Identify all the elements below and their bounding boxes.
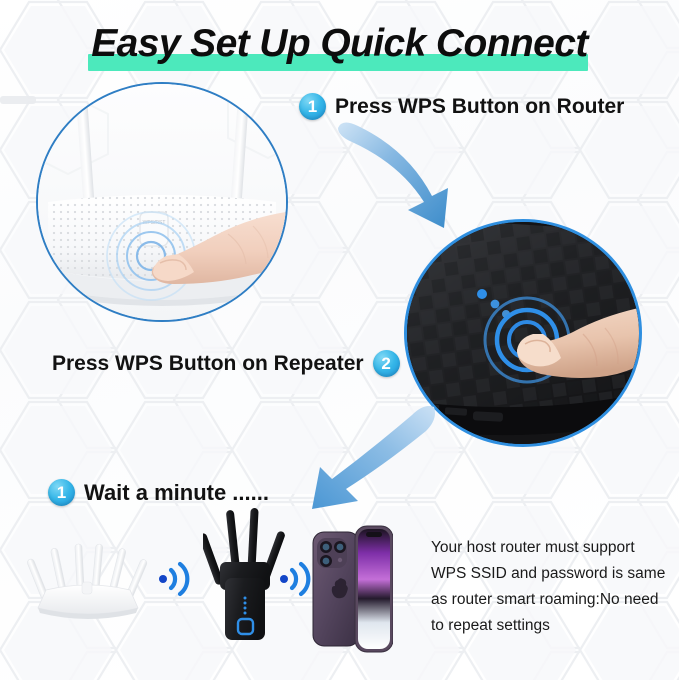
device-smartphone bbox=[311, 524, 393, 654]
photo-repeater-wps bbox=[404, 219, 642, 447]
step-badge-1: 1 bbox=[299, 93, 326, 120]
page-title-wrap: Easy Set Up Quick Connect bbox=[0, 18, 679, 76]
note-line-2: WPS SSID and password is same bbox=[431, 561, 679, 587]
note-paragraph: Your host router must support WPS SSID a… bbox=[431, 535, 679, 639]
arrow-router-to-repeater bbox=[336, 120, 486, 240]
photo-router-image: WPS/RST bbox=[38, 84, 286, 320]
arrow-repeater-to-result bbox=[288, 405, 438, 525]
step-press-wps-repeater: Press WPS Button on Repeater 2 bbox=[52, 350, 400, 377]
step-label-2: Press WPS Button on Repeater bbox=[52, 352, 364, 376]
device-host-router bbox=[22, 528, 154, 624]
step-badge-2: 2 bbox=[373, 350, 400, 377]
step-press-wps-router: 1 Press WPS Button on Router bbox=[299, 93, 624, 120]
wifi-signal-router-to-repeater bbox=[156, 561, 198, 597]
infographic-page: Easy Set Up Quick Connect bbox=[0, 0, 679, 680]
photo-router-wps: WPS/RST bbox=[36, 82, 288, 322]
page-title: Easy Set Up Quick Connect bbox=[0, 18, 679, 70]
note-line-3: as router smart roaming:No need bbox=[431, 587, 679, 613]
step-wait-a-minute: 1 Wait a minute ...... bbox=[48, 479, 269, 506]
note-line-1: Your host router must support bbox=[431, 535, 679, 561]
step-label-3: Wait a minute ...... bbox=[84, 480, 269, 506]
device-wifi-repeater bbox=[203, 506, 287, 652]
note-line-4: to repeat settings bbox=[431, 613, 679, 639]
step-badge-3: 1 bbox=[48, 479, 75, 506]
step-label-1: Press WPS Button on Router bbox=[335, 95, 624, 119]
photo-repeater-image bbox=[407, 222, 639, 444]
